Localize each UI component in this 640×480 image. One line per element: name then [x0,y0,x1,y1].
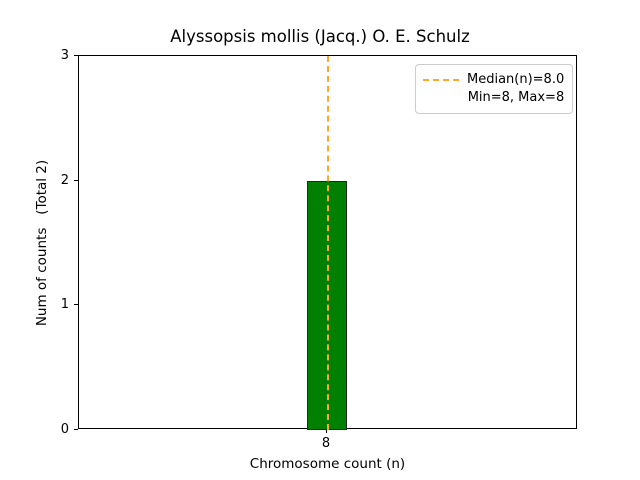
y-tick-label-0: 0 [61,423,69,436]
y-axis-label: Num of counts (Total 2) [34,56,50,430]
x-axis-label: Chromosome count (n) [78,456,577,472]
legend-label-median: Median(n)=8.0 [467,71,564,89]
x-tick-label-8: 8 [322,437,330,450]
chart-legend: Median(n)=8.0 Min=8, Max=8 [415,64,573,114]
legend-label-minmax: Min=8, Max=8 [468,89,565,107]
legend-entry-minmax: Min=8, Max=8 [423,89,564,107]
y-tick-label-2: 2 [61,174,69,187]
plot-area: Median(n)=8.0 Min=8, Max=8 [78,55,577,429]
dashed-line-icon [423,79,459,81]
chart-figure: Alyssopsis mollis (Jacq.) O. E. Schulz 0… [0,0,640,480]
chart-title: Alyssopsis mollis (Jacq.) O. E. Schulz [0,27,640,47]
legend-entry-median: Median(n)=8.0 [423,71,564,89]
y-tick-label-3: 3 [61,49,69,62]
y-tick-label-1: 1 [61,298,69,311]
y-tick-mark-0 [74,429,78,430]
median-line [327,56,329,430]
